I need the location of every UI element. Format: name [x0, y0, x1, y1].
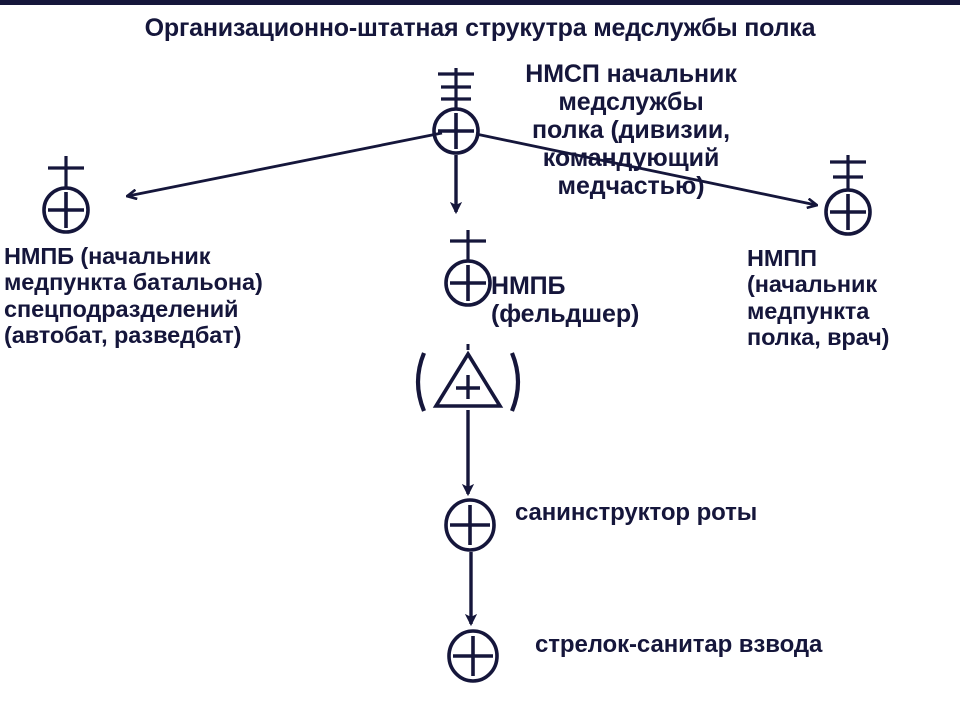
right-parenthesis [512, 353, 518, 411]
left-parenthesis [418, 353, 424, 411]
node-strelok-sanitar-vzvoda[interactable] [449, 631, 497, 681]
node-nmsp[interactable] [434, 68, 478, 153]
node-label-nmsp: НМСП начальник медслужбы полка (дивизии,… [481, 60, 781, 200]
node-saninstruktor-roty[interactable] [446, 500, 494, 550]
rank-insignia-1-bar [450, 230, 486, 262]
node-label-strelok-sanitar: стрелок-санитар взвода [535, 632, 822, 659]
connector-top-to-left [128, 133, 442, 196]
rank-insignia-3-bars [438, 68, 474, 109]
rank-insignia-2-bars [830, 155, 866, 191]
node-label-nmpp: НМПП (начальник медпункта полка, врач) [747, 245, 889, 350]
node-nmpp[interactable] [826, 155, 870, 234]
node-triangle-mpb[interactable] [418, 344, 518, 411]
node-label-nmpb-feldsher: НМПБ (фельдшер) [491, 272, 639, 328]
node-nmpb-feldsher[interactable] [446, 230, 490, 305]
org-chart-diagram [0, 0, 960, 720]
slide-canvas: Организационно-штатная струкутра медслуж… [0, 0, 960, 720]
node-nmpb-spec[interactable] [44, 156, 88, 232]
node-label-nmpb-spec: НМПБ (начальник медпункта батальона) спе… [4, 243, 263, 348]
node-label-saninstruktor: санинструктор роты [515, 500, 757, 527]
rank-insignia-1-bar [48, 156, 84, 189]
